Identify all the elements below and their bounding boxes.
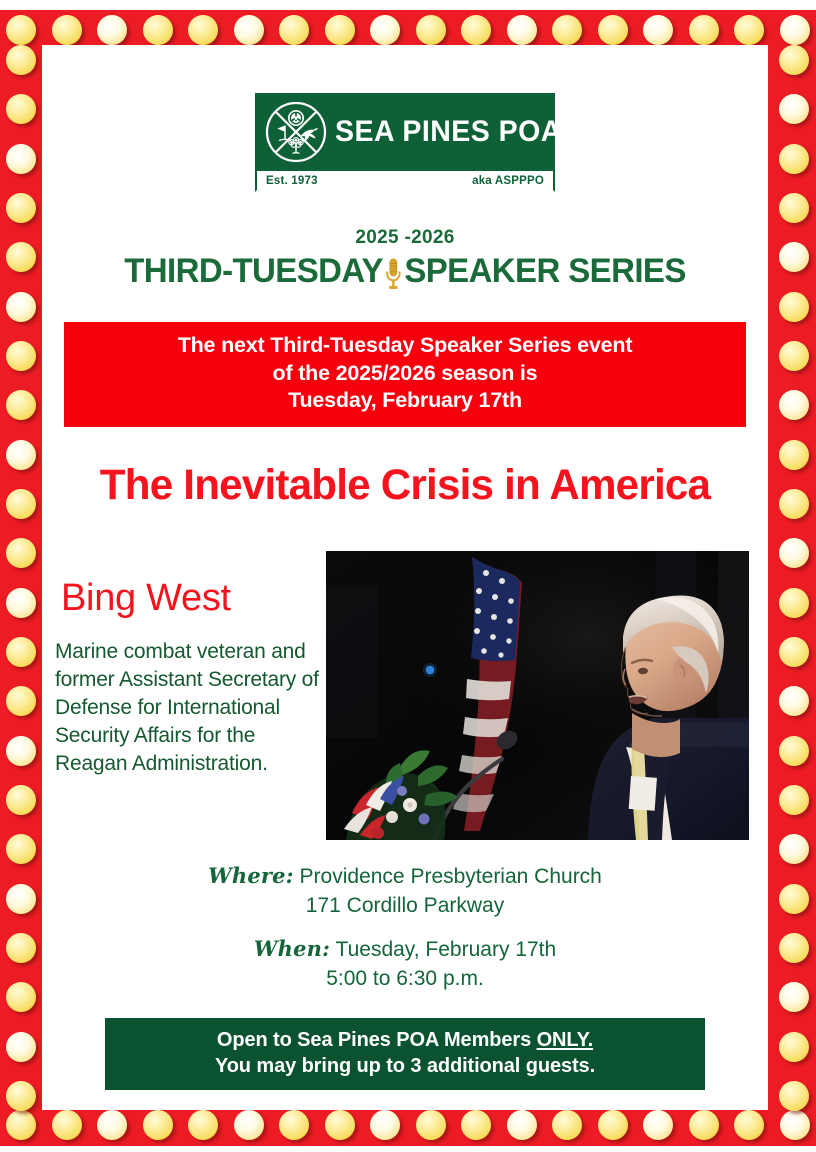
- marquee-bulb: [780, 1110, 810, 1140]
- marquee-bulb: [143, 15, 173, 45]
- where-group: Where: Providence Presbyterian Church 17…: [42, 862, 768, 921]
- organization-logo: SEA PINES POA Est. 1973 aka ASPPPO: [255, 93, 555, 192]
- marquee-bulb: [370, 15, 400, 45]
- marquee-bulb: [97, 15, 127, 45]
- marquee-bulb: [6, 982, 36, 1012]
- marquee-bulb: [416, 1110, 446, 1140]
- marquee-bulb: [779, 588, 809, 618]
- marquee-bulb: [779, 489, 809, 519]
- marquee-bulb: [6, 1110, 36, 1140]
- marquee-bulb: [325, 1110, 355, 1140]
- marquee-bulb: [779, 144, 809, 174]
- marquee-bulb: [461, 15, 491, 45]
- marquee-bulb: [689, 1110, 719, 1140]
- marquee-bulb: [598, 15, 628, 45]
- marquee-bulb: [6, 1081, 36, 1111]
- marquee-bulb: [234, 15, 264, 45]
- marquee-bulb: [779, 686, 809, 716]
- marquee-bulb: [6, 834, 36, 864]
- marquee-bulb: [6, 489, 36, 519]
- event-flyer: SEA PINES POA Est. 1973 aka ASPPPO 2025 …: [0, 0, 816, 1152]
- marquee-bulb: [6, 144, 36, 174]
- logo-subbar: Est. 1973 aka ASPPPO: [255, 171, 555, 192]
- marquee-bulb: [188, 15, 218, 45]
- talk-title: The Inevitable Crisis in America: [49, 461, 760, 510]
- where-label: Where:: [208, 863, 294, 888]
- marquee-bulb: [779, 785, 809, 815]
- marquee-bulb: [780, 15, 810, 45]
- when-date: Tuesday, February 17th: [336, 938, 557, 961]
- event-details: Where: Providence Presbyterian Church 17…: [42, 862, 768, 994]
- marquee-bulb: [6, 1032, 36, 1062]
- marquee-bulb: [779, 341, 809, 371]
- where-venue: Providence Presbyterian Church: [300, 865, 602, 888]
- marquee-bulb: [779, 834, 809, 864]
- where-address: 171 Cordillo Parkway: [42, 892, 768, 921]
- marquee-bulb: [643, 15, 673, 45]
- marquee-bulb: [507, 1110, 537, 1140]
- marquee-bulb: [6, 292, 36, 322]
- marquee-bulb: [6, 933, 36, 963]
- marquee-bulb: [643, 1110, 673, 1140]
- announcement-line-3: Tuesday, February 17th: [70, 387, 740, 415]
- marquee-bulb: [6, 242, 36, 272]
- announcement-banner: The next Third-Tuesday Speaker Series ev…: [64, 322, 746, 427]
- marquee-bulb: [779, 390, 809, 420]
- marquee-bulb: [416, 15, 446, 45]
- when-group: When: Tuesday, February 17th 5:00 to 6:3…: [42, 935, 768, 994]
- marquee-bulb: [779, 933, 809, 963]
- marquee-bulb: [6, 588, 36, 618]
- marquee-bulb: [279, 1110, 309, 1140]
- series-title-part1: THIRD-TUESDAY: [124, 252, 383, 291]
- marquee-bulb: [779, 45, 809, 75]
- logo-established: Est. 1973: [266, 175, 318, 187]
- marquee-bulb: [598, 1110, 628, 1140]
- marquee-bulb: [779, 736, 809, 766]
- membership-line-1: Open to Sea Pines POA Members ONLY.: [111, 1027, 699, 1053]
- marquee-bulb: [370, 1110, 400, 1140]
- marquee-bulb: [188, 1110, 218, 1140]
- marquee-bulb: [779, 242, 809, 272]
- marquee-bulb: [6, 440, 36, 470]
- sea-pines-circle-emblem-icon: [263, 99, 329, 165]
- marquee-bulb: [779, 1081, 809, 1111]
- marquee-bulb: [552, 15, 582, 45]
- marquee-bulb: [779, 982, 809, 1012]
- marquee-bulb: [779, 94, 809, 124]
- marquee-bulb: [779, 193, 809, 223]
- marquee-bulb: [507, 15, 537, 45]
- marquee-bulb: [234, 1110, 264, 1140]
- marquee-bulb: [6, 390, 36, 420]
- members-only-emphasis: ONLY.: [537, 1029, 594, 1051]
- where-line-1: Where: Providence Presbyterian Church: [42, 862, 768, 892]
- marquee-bulb: [734, 1110, 764, 1140]
- marquee-bulb: [6, 785, 36, 815]
- marquee-bulb: [779, 440, 809, 470]
- logo-green-bar: SEA PINES POA: [255, 93, 555, 171]
- when-time: 5:00 to 6:30 p.m.: [42, 965, 768, 994]
- flyer-content-card: SEA PINES POA Est. 1973 aka ASPPPO 2025 …: [42, 45, 768, 1100]
- logo-alias: aka ASPPPO: [472, 175, 544, 187]
- announcement-line-1: The next Third-Tuesday Speaker Series ev…: [70, 332, 740, 360]
- marquee-bulb: [689, 15, 719, 45]
- marquee-bulb: [779, 637, 809, 667]
- marquee-bulb: [6, 45, 36, 75]
- speaker-name: Bing West: [61, 577, 231, 620]
- marquee-bulb: [779, 292, 809, 322]
- marquee-bulb: [6, 341, 36, 371]
- marquee-bulb: [6, 637, 36, 667]
- microphone-icon: [384, 257, 403, 291]
- season-label: 2025 -2026: [42, 227, 768, 249]
- marquee-bulb: [6, 538, 36, 568]
- marquee-bulb: [279, 15, 309, 45]
- membership-notice-banner: Open to Sea Pines POA Members ONLY. You …: [105, 1018, 705, 1090]
- marquee-bulb: [779, 884, 809, 914]
- marquee-bulb: [461, 1110, 491, 1140]
- marquee-bulb: [779, 538, 809, 568]
- speaker-bio: Marine combat veteran and former Assista…: [55, 638, 323, 778]
- marquee-bulb: [6, 94, 36, 124]
- series-title-part2: SPEAKER SERIES: [404, 252, 685, 291]
- marquee-bulb: [143, 1110, 173, 1140]
- membership-text: Open to Sea Pines POA Members: [217, 1029, 537, 1051]
- marquee-bulb: [6, 884, 36, 914]
- when-line-1: When: Tuesday, February 17th: [42, 935, 768, 965]
- when-label: When:: [254, 936, 330, 961]
- marquee-bulb: [325, 15, 355, 45]
- series-title: THIRD-TUESDAY SPEAKER SERIES: [53, 252, 757, 291]
- marquee-bulb: [52, 1110, 82, 1140]
- marquee-bulb: [97, 1110, 127, 1140]
- marquee-bulb: [6, 193, 36, 223]
- logo-wordmark: SEA PINES POA: [335, 115, 562, 149]
- marquee-bulb: [6, 736, 36, 766]
- marquee-bulb: [734, 15, 764, 45]
- announcement-line-2: of the 2025/2026 season is: [70, 360, 740, 388]
- membership-line-2: You may bring up to 3 additional guests.: [111, 1053, 699, 1079]
- marquee-bulb: [6, 15, 36, 45]
- marquee-bulb: [52, 15, 82, 45]
- marquee-bulb: [552, 1110, 582, 1140]
- speaker-at-podium-photo: [326, 551, 749, 840]
- marquee-bulb: [6, 686, 36, 716]
- marquee-bulb: [779, 1032, 809, 1062]
